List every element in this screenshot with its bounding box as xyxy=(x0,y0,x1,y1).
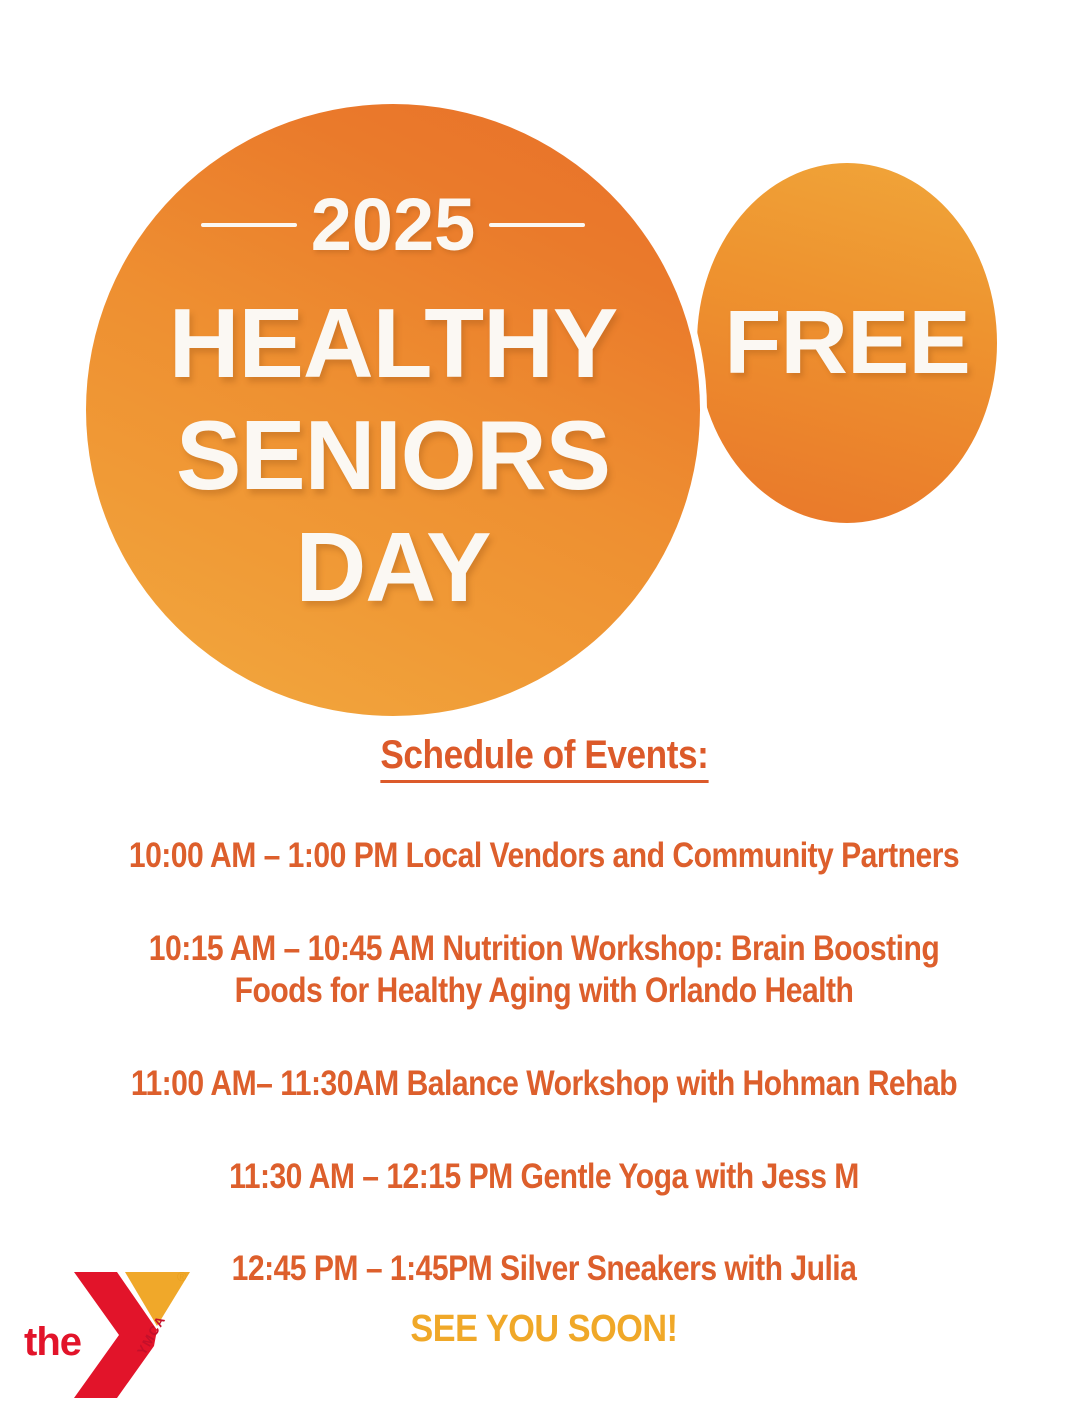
schedule-event-1-line-1: 10:00 AM – 1:00 PM Local Vendors and Com… xyxy=(102,835,986,878)
title-line-seniors: SENIORS xyxy=(176,406,610,504)
year-row: 2025 xyxy=(86,188,700,262)
main-title-content: 2025 HEALTHY SENIORS DAY xyxy=(86,104,700,716)
registered-trademark-icon: ® xyxy=(177,1270,187,1283)
closing-message: SEE YOU SOON! xyxy=(54,1310,1033,1348)
schedule-event-3-line-1: 11:00 AM– 11:30AM Balance Workshop with … xyxy=(102,1063,986,1106)
year-rule-right-icon xyxy=(489,223,585,227)
schedule-event-1: 10:00 AM – 1:00 PM Local Vendors and Com… xyxy=(76,835,1012,878)
free-badge-label: FREE xyxy=(724,298,969,388)
schedule-heading-wrap: Schedule of Events: xyxy=(0,732,1088,783)
title-line-day: DAY xyxy=(296,518,491,616)
year-label: 2025 xyxy=(311,188,476,262)
free-badge-circle: FREE xyxy=(697,163,997,523)
schedule-event-4: 11:30 AM – 12:15 PM Gentle Yoga with Jes… xyxy=(76,1156,1012,1199)
title-line-healthy: HEALTHY xyxy=(169,294,618,392)
schedule-event-4-line-1: 11:30 AM – 12:15 PM Gentle Yoga with Jes… xyxy=(102,1156,986,1199)
flyer-page: FREE 2025 HEALTHY SENIORS DAY Schedule o… xyxy=(0,0,1088,1408)
schedule-event-3: 11:00 AM– 11:30AM Balance Workshop with … xyxy=(76,1063,1012,1106)
hero-section: FREE 2025 HEALTHY SENIORS DAY xyxy=(0,0,1088,730)
schedule-section: Schedule of Events: 10:00 AM – 1:00 PM L… xyxy=(0,732,1088,1291)
footer-section: the ® YMCA SEE YOU SOON! xyxy=(0,1258,1088,1408)
main-title-circle: 2025 HEALTHY SENIORS DAY xyxy=(86,104,700,716)
year-rule-left-icon xyxy=(201,223,297,227)
schedule-heading: Schedule of Events: xyxy=(380,732,708,783)
schedule-event-2: 10:15 AM – 10:45 AM Nutrition Workshop: … xyxy=(76,928,1012,1013)
schedule-event-2-line-1: 10:15 AM – 10:45 AM Nutrition Workshop: … xyxy=(102,928,986,971)
schedule-event-2-line-2: Foods for Healthy Aging with Orlando Hea… xyxy=(102,970,986,1013)
